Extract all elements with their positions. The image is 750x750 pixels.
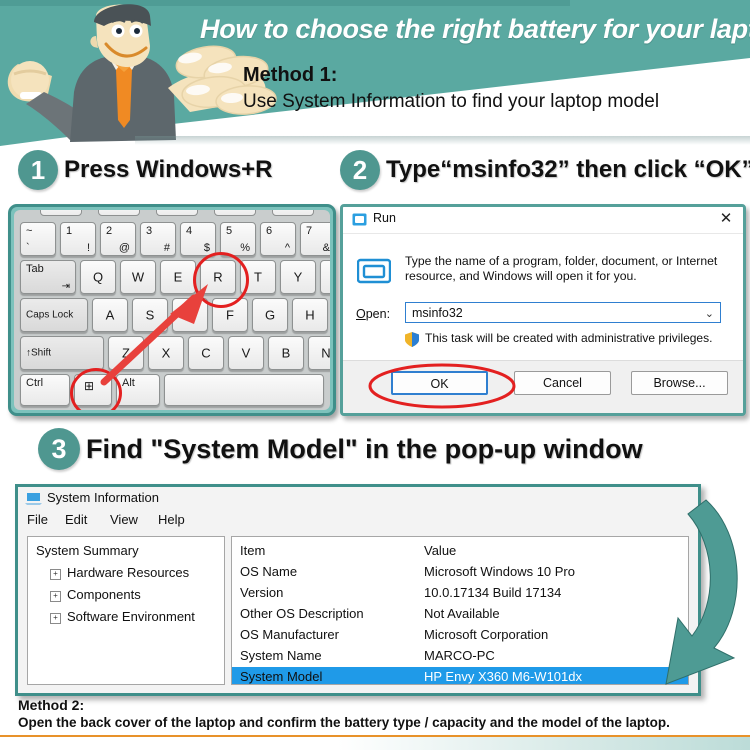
chevron-down-icon[interactable]: ⌄ [705, 307, 714, 320]
details-table: Item Value OS Name Microsoft Windows 10 … [231, 536, 689, 685]
key-label: 2 [106, 225, 112, 237]
table-row-selected[interactable]: System Model HP Envy X360 M6-W101dx [232, 667, 688, 685]
system-information-titlebar: System Information [18, 487, 698, 511]
method-2-block: Method 2: Open the back cover of the lap… [18, 696, 732, 732]
method-1-label: Method 1: [243, 62, 743, 88]
step-2-heading: 2 Type“msinfo32” then click “OK” [340, 150, 750, 190]
menu-file[interactable]: File [27, 512, 48, 527]
key-label: ` [26, 242, 30, 254]
column-header-item: Item [240, 543, 265, 558]
key-label: Tab [26, 263, 44, 275]
cell-item: OS Name [240, 564, 297, 579]
open-input-value: msinfo32 [412, 306, 463, 320]
step-3-badge: 3 [38, 428, 80, 470]
method-1-text: Use System Information to find your lapt… [243, 88, 743, 116]
key-label: H [293, 308, 327, 323]
tree-item-software-environment[interactable]: +Software Environment [50, 609, 195, 624]
tree-item-system-summary[interactable]: System Summary [36, 543, 139, 558]
key-2: 2 @ [100, 222, 136, 256]
key-label: N [309, 346, 330, 361]
expand-icon[interactable]: + [50, 613, 61, 624]
system-information-icon [25, 492, 42, 506]
method-1-block: Method 1: Use System Information to find… [243, 62, 743, 116]
key-label: 3 [146, 225, 152, 237]
tree-item-hardware-resources[interactable]: +Hardware Resources [50, 565, 189, 580]
method-2-label: Method 2: [18, 696, 732, 714]
key-label: Y [281, 270, 315, 285]
system-information-menubar: File Edit View Help [18, 511, 698, 533]
key-label: # [164, 242, 170, 254]
key-label: & [323, 242, 330, 254]
run-dialog-description: Type the name of a program, folder, docu… [405, 254, 725, 284]
cell-value: Not Available [424, 606, 500, 621]
key-5: 5 % [220, 222, 256, 256]
key-y: Y [280, 260, 316, 294]
step-3-title: Find "System Model" in the pop-up window [86, 434, 643, 465]
key-label: 1 [66, 225, 72, 237]
key-tilde: ~ ` [20, 222, 56, 256]
admin-privileges-notice: This task will be created with administr… [425, 331, 712, 345]
cancel-button[interactable]: Cancel [514, 371, 611, 395]
key-g: G [252, 298, 288, 332]
step-1-title: Press Windows+R [64, 156, 273, 184]
table-row[interactable]: OS Manufacturer Microsoft Corporation [232, 625, 688, 646]
run-dialog-title: Run [373, 211, 396, 225]
key-6: 6 ^ [260, 222, 296, 256]
menu-view[interactable]: View [110, 512, 138, 527]
cell-item: OS Manufacturer [240, 627, 339, 642]
key-label: ^ [285, 242, 290, 254]
key-label: 4 [186, 225, 192, 237]
table-row[interactable]: Other OS Description Not Available [232, 604, 688, 625]
key-u: U [320, 260, 330, 294]
key-h: H [292, 298, 328, 332]
key-7: 7 & [300, 222, 330, 256]
cell-value: Microsoft Corporation [424, 627, 548, 642]
step-2-title: Type“msinfo32” then click “OK” [386, 156, 750, 184]
teal-curved-arrow [648, 498, 750, 698]
key-label: ~ [26, 225, 32, 237]
run-dialog-body: Type the name of a program, folder, docu… [343, 234, 743, 356]
tree-item-label: Components [67, 587, 141, 602]
keyboard-illustration: ~ ` 1 ! 2 @ 3 # 4 $ 5 % [8, 204, 336, 416]
step-3-heading: 3 Find "System Model" in the pop-up wind… [38, 428, 643, 470]
key-n: N [308, 336, 330, 370]
run-dialog-titlebar: Run ✕ [343, 207, 743, 234]
cell-value: 10.0.17134 Build 17134 [424, 585, 561, 600]
tab-arrow-icon: ⇥ [62, 281, 70, 292]
key-fn-row-partial [272, 210, 314, 216]
system-information-window: System Information File Edit View Help S… [15, 484, 701, 696]
step-1-badge: 1 [18, 150, 58, 190]
key-label: % [240, 242, 250, 254]
infographic-page: How to choose the right battery for your… [0, 0, 750, 750]
red-arrow-annotation [74, 270, 234, 400]
expand-icon[interactable]: + [50, 591, 61, 602]
navigation-tree: System Summary +Hardware Resources +Comp… [27, 536, 225, 685]
key-label: 7 [306, 225, 312, 237]
header-banner: How to choose the right battery for your… [0, 0, 750, 146]
cell-value: MARCO-PC [424, 648, 495, 663]
key-label: ↑Shift [26, 348, 51, 359]
table-row[interactable]: Version 10.0.17134 Build 17134 [232, 583, 688, 604]
header-divider-shadow [135, 136, 750, 145]
key-label: Caps Lock [26, 310, 73, 321]
cell-item: Version [240, 585, 283, 600]
table-row[interactable]: System Name MARCO-PC [232, 646, 688, 667]
key-label: $ [204, 242, 210, 254]
cell-item: System Name [240, 648, 322, 663]
run-dialog: Run ✕ Type the name of a program, folder… [340, 204, 746, 416]
key-label: @ [119, 242, 130, 254]
menu-help[interactable]: Help [158, 512, 185, 527]
expand-icon[interactable]: + [50, 569, 61, 580]
tree-item-label: Hardware Resources [67, 565, 189, 580]
run-window-icon [352, 213, 367, 226]
key-b: B [268, 336, 304, 370]
key-tab: Tab ⇥ [20, 260, 76, 294]
key-4: 4 $ [180, 222, 216, 256]
key-label: B [269, 346, 303, 361]
cell-value: HP Envy X360 M6-W101dx [424, 669, 582, 684]
footer-gradient-band [0, 737, 750, 750]
key-label: Ctrl [26, 377, 43, 389]
step-2-badge: 2 [340, 150, 380, 190]
key-label: G [253, 308, 287, 323]
table-row[interactable]: OS Name Microsoft Windows 10 Pro [232, 562, 688, 583]
key-1: 1 ! [60, 222, 96, 256]
cell-item: Other OS Description [240, 606, 364, 621]
run-dialog-footer: OK Cancel Browse... [343, 360, 743, 413]
system-information-title: System Information [47, 490, 159, 505]
key-label: V [229, 346, 263, 361]
tree-item-label: Software Environment [67, 609, 195, 624]
menu-edit[interactable]: Edit [65, 512, 87, 527]
run-large-icon [357, 258, 391, 286]
column-header-value: Value [424, 543, 456, 558]
open-field-label: Open: [356, 307, 390, 321]
highlight-ellipse-ok-button [367, 363, 517, 409]
system-information-panels: System Summary +Hardware Resources +Comp… [27, 536, 689, 685]
key-fn-row-partial [156, 210, 198, 216]
browse-button[interactable]: Browse... [631, 371, 728, 395]
table-header-row: Item Value [232, 541, 688, 562]
key-ctrl: Ctrl [20, 374, 70, 406]
key-label: ! [87, 242, 90, 254]
cell-item: System Model [240, 669, 322, 684]
open-input[interactable]: msinfo32 ⌄ [405, 302, 721, 323]
close-icon[interactable]: ✕ [717, 210, 735, 228]
keyboard-surface: ~ ` 1 ! 2 @ 3 # 4 $ 5 % [14, 210, 330, 410]
key-3: 3 # [140, 222, 176, 256]
key-label: 5 [226, 225, 232, 237]
step-1-heading: 1 Press Windows+R [18, 150, 273, 190]
tree-item-label: System Summary [36, 543, 139, 558]
cell-value: Microsoft Windows 10 Pro [424, 564, 575, 579]
key-fn-row-partial [98, 210, 140, 216]
uac-shield-icon [405, 332, 419, 347]
key-fn-row-partial [40, 210, 82, 216]
key-label: U [321, 270, 330, 285]
key-fn-row-partial [214, 210, 256, 216]
key-label: 6 [266, 225, 272, 237]
tree-item-components[interactable]: +Components [50, 587, 141, 602]
method-2-text: Open the back cover of the laptop and co… [18, 714, 732, 732]
